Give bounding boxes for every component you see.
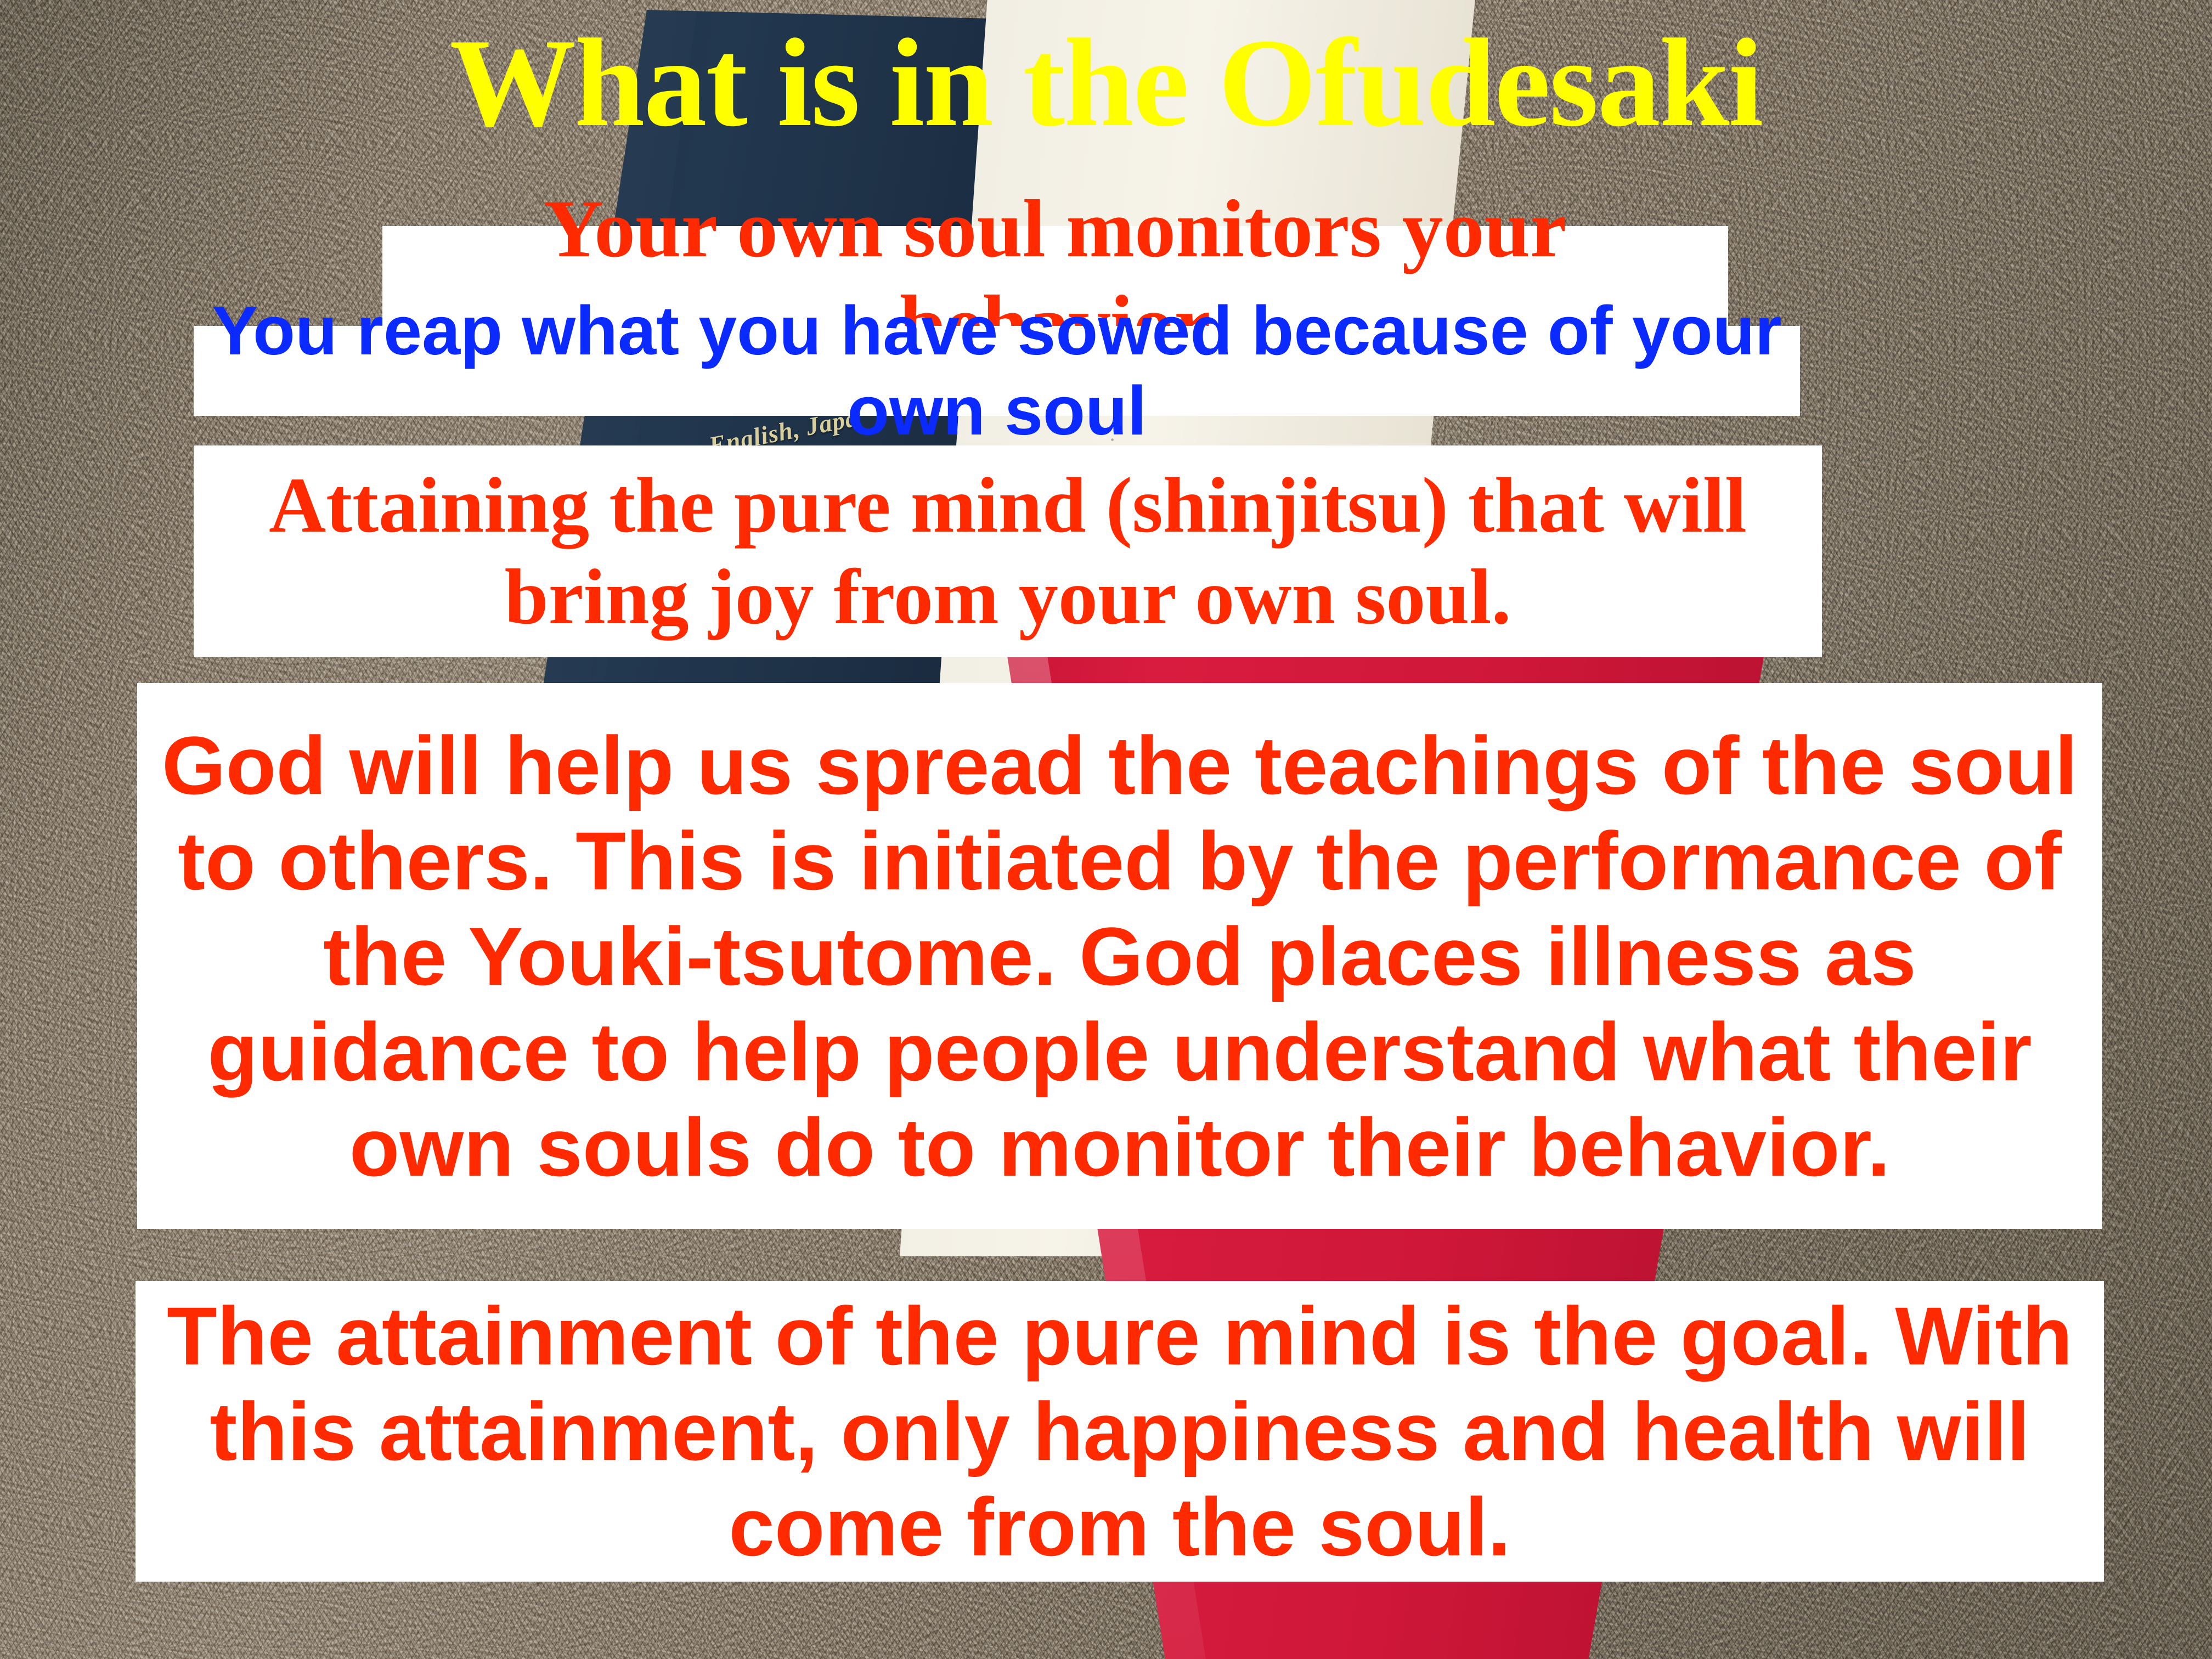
caption-box-reap-sowed: You reap what you have sowed because of …: [194, 326, 1800, 416]
presentation-slide: English, Japa What is in the Ofudesaki Y…: [0, 0, 2212, 1659]
caption-box-attainment-goal: The attainment of the pure mind is the g…: [136, 1281, 2104, 1582]
caption-box-god-will-help: God will help us spread the teachings of…: [137, 683, 2102, 1229]
caption-text-attainment-goal: The attainment of the pure mind is the g…: [150, 1288, 2090, 1575]
caption-text-pure-mind: Attaining the pure mind (shinjitsu) that…: [208, 460, 1808, 643]
caption-text-god-will-help: God will help us spread the teachings of…: [151, 718, 2088, 1195]
caption-text-reap-sowed: You reap what you have sowed because of …: [208, 291, 1786, 451]
caption-box-pure-mind: Attaining the pure mind (shinjitsu) that…: [194, 445, 1822, 657]
slide-title: What is in the Ofudesaki: [0, 20, 2212, 146]
